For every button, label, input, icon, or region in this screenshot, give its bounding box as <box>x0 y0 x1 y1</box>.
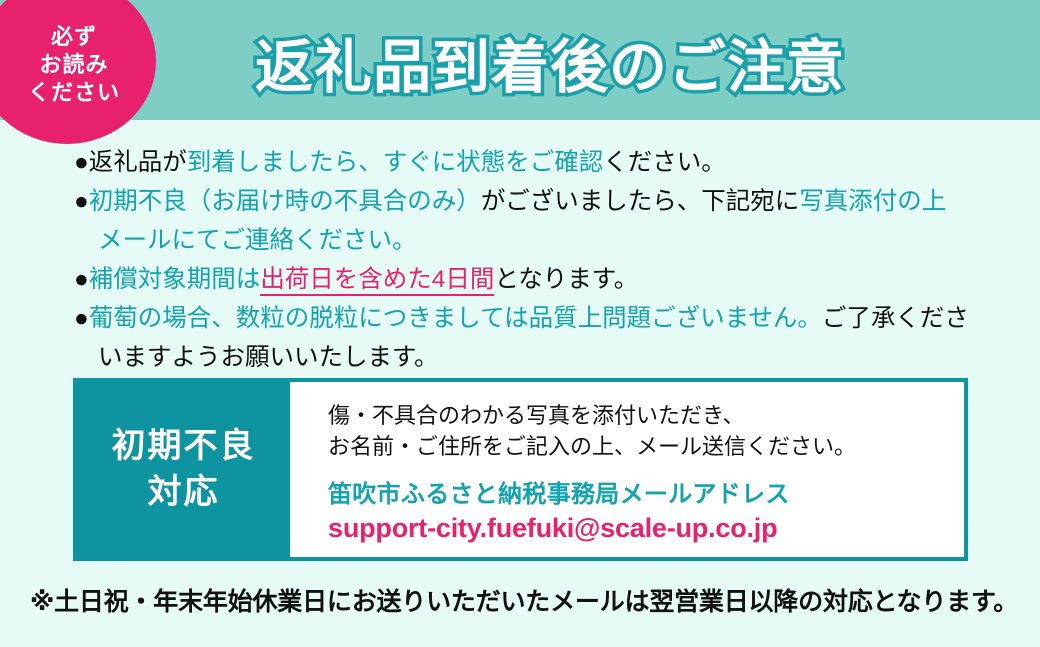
defect-response-label: 初期不良 対応 <box>77 382 290 557</box>
notice-bullet-line: ●補償対象期間は出荷日を含めた4日間となります。 <box>74 260 1024 299</box>
notice-text-segment: ● <box>74 188 89 215</box>
badge-line-1: 必ず <box>51 23 97 51</box>
notice-text-segment: メールにてご連絡ください。 <box>98 227 417 254</box>
support-email-address[interactable]: support-city.fuefuki@scale-up.co.jp <box>328 513 964 544</box>
badge-line-2: お読み <box>39 51 108 79</box>
defect-instructions: 傷・不具合のわかる写真を添付いただき、 お名前・ご住所をご記入の上、メール送信く… <box>290 382 964 557</box>
notice-bullet-line: ●返礼品が到着しましたら、すぐに状態をご確認ください。 <box>74 143 1024 182</box>
defect-label-line-1: 初期不良 <box>112 424 256 469</box>
notice-bullet-list: ●返礼品が到着しましたら、すぐに状態をご確認ください。●初期不良（お届け時の不具… <box>74 143 1024 377</box>
office-email-label: 笛吹市ふるさと納税事務局メールアドレス <box>328 474 964 509</box>
notice-text-segment: ご了承くださ <box>822 305 969 332</box>
notice-text-segment: 出荷日を含めた4日間 <box>260 266 494 296</box>
notice-text-segment: がございましたら、下記宛に <box>481 188 800 215</box>
notice-text-segment: 葡萄の場合、数粒の脱粒につきましては品質上問題ございません。 <box>89 305 822 332</box>
badge-line-3: ください <box>28 79 120 107</box>
instruction-line-1: 傷・不具合のわかる写真を添付いただき、 <box>328 400 964 431</box>
notice-bullet-line: ●葡萄の場合、数粒の脱粒につきましては品質上問題ございません。ご了承くださ <box>74 299 1024 338</box>
business-day-note: ※土日祝・年末年始休業日にお送りいただいたメールは翌営業日以降の対応となります。 <box>30 582 1020 618</box>
instruction-line-2: お名前・ご住所をご記入の上、メール送信ください。 <box>328 431 964 462</box>
notice-text-segment: ●返礼品が <box>74 149 187 176</box>
notice-bullet-line: メールにてご連絡ください。 <box>74 221 1024 260</box>
notice-text-segment: ● <box>74 266 89 293</box>
notice-bullet-line: いますようお願いいたします。 <box>74 338 1024 377</box>
notice-text-segment: 初期不良（お届け時の不具合のみ） <box>89 188 481 215</box>
notice-text-segment: 到着しましたら、すぐに状態をご確認 <box>187 149 604 176</box>
notice-text-segment: いますようお願いいたします。 <box>98 344 439 371</box>
notice-text-segment: 補償対象期間は <box>89 266 261 293</box>
page-title: 返礼品到着後のご注意 <box>255 18 895 106</box>
must-read-badge: 必ず お読み ください <box>0 0 156 144</box>
notice-graphic: 返礼品到着後のご注意 必ず お読み ください ●返礼品が到着しましたら、すぐに状… <box>0 0 1040 647</box>
defect-label-line-2: 対応 <box>148 470 220 515</box>
notice-text-segment: ください。 <box>603 149 726 176</box>
notice-text-segment: ● <box>74 305 89 332</box>
defect-contact-box: 初期不良 対応 傷・不具合のわかる写真を添付いただき、 お名前・ご住所をご記入の… <box>73 378 968 561</box>
notice-text-segment: 写真添付の上 <box>799 188 946 215</box>
notice-text-segment: となります。 <box>494 266 638 293</box>
notice-bullet-line: ●初期不良（お届け時の不具合のみ）がございましたら、下記宛に写真添付の上 <box>74 182 1024 221</box>
